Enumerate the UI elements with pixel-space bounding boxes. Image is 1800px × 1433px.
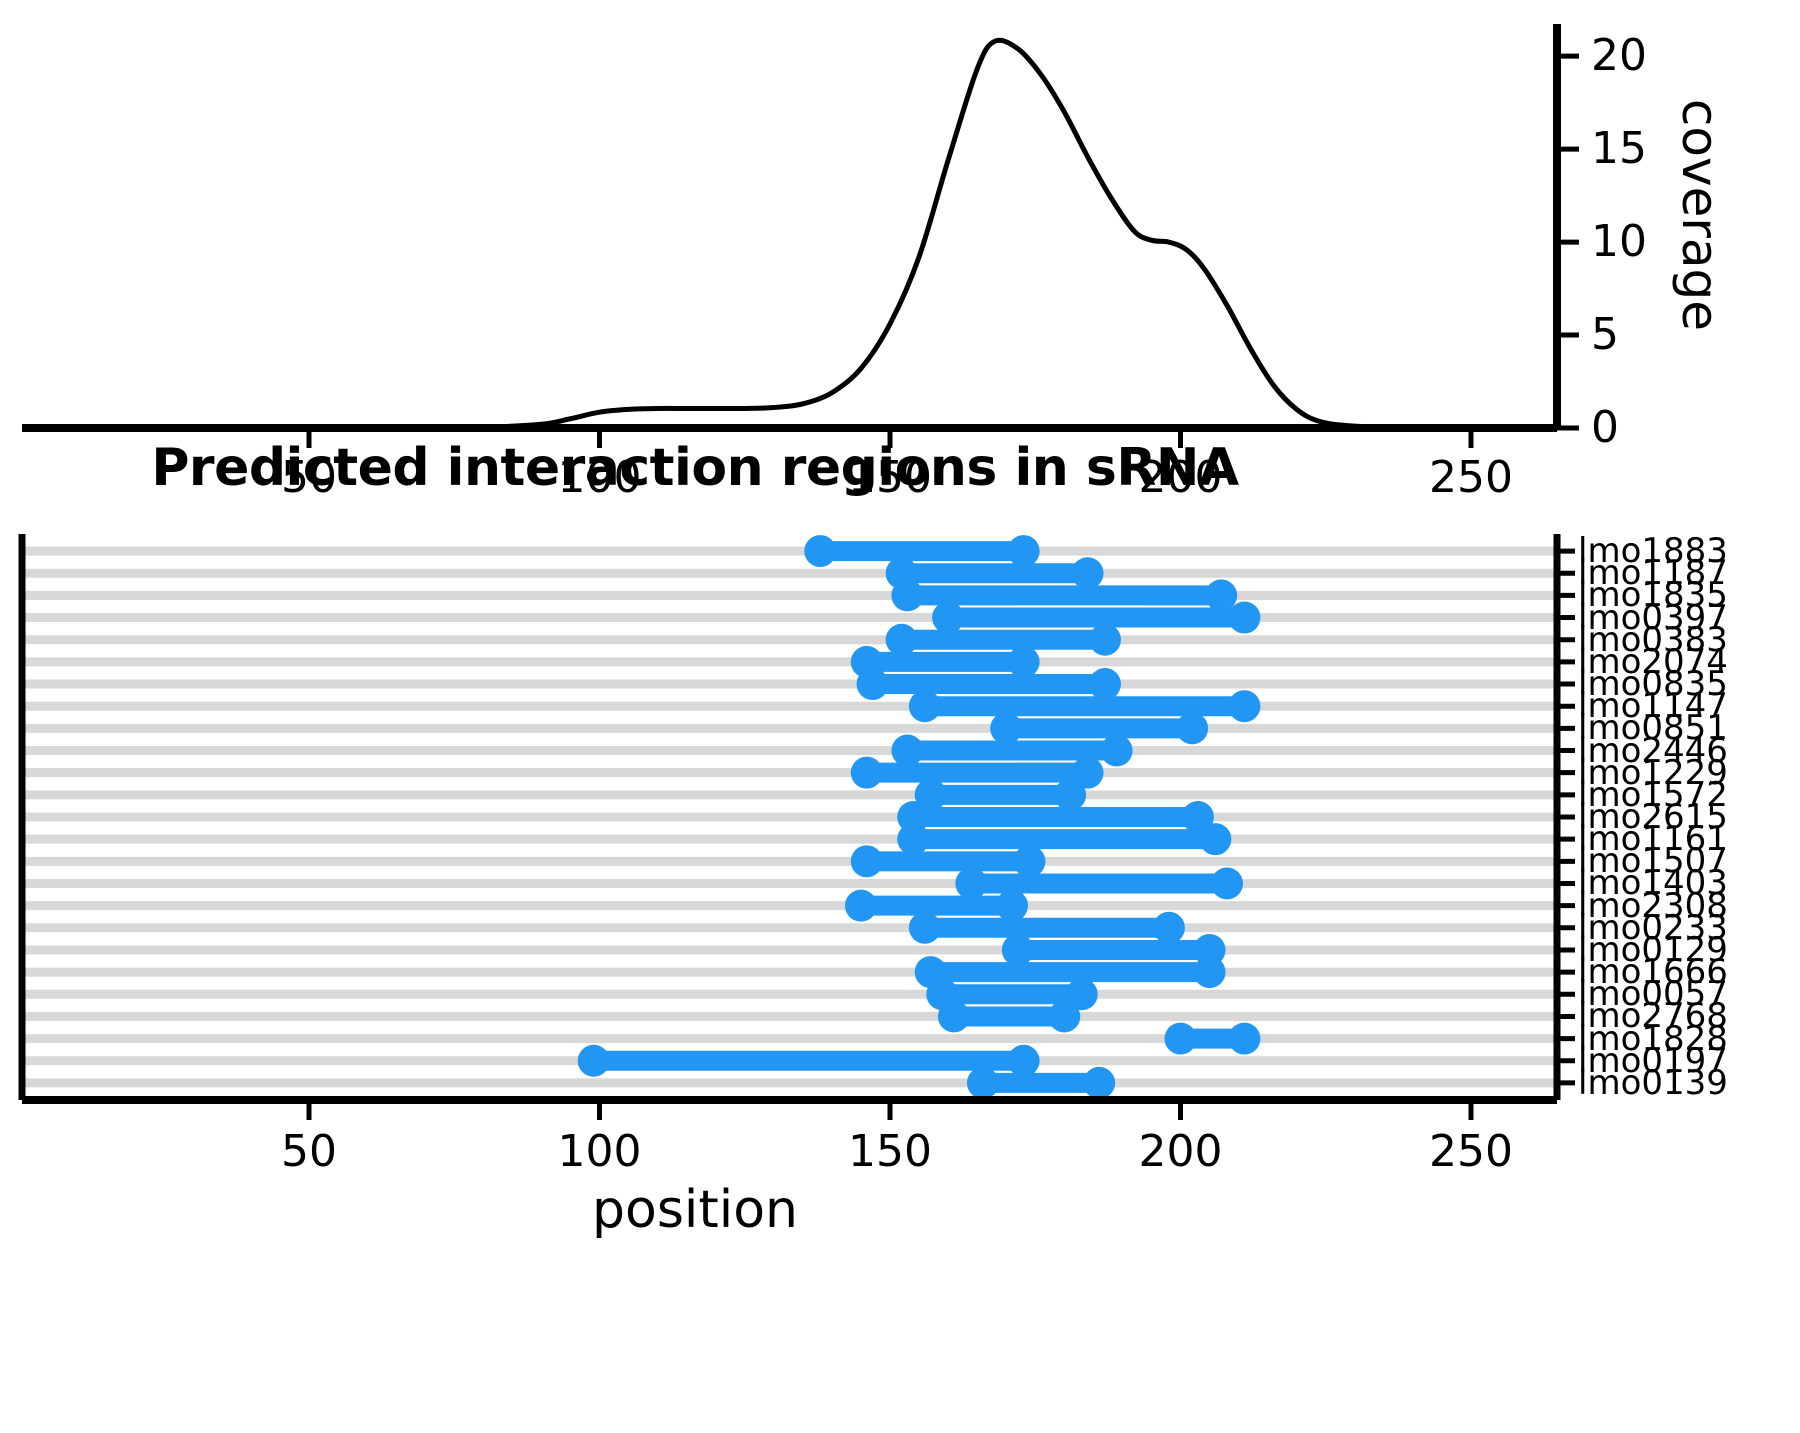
region-end-dot[interactable] (1205, 579, 1237, 611)
coverage-density-curve (141, 40, 1576, 428)
coverage-axis-label: coverage (1671, 99, 1729, 331)
region-start-dot[interactable] (990, 712, 1022, 744)
region-start-dot[interactable] (851, 845, 883, 877)
region-end-dot[interactable] (1194, 956, 1226, 988)
page-title: Predicted interaction regions in sRNA (0, 438, 1390, 498)
coverage-y-tick-label: 15 (1591, 127, 1647, 171)
region-end-dot[interactable] (1072, 557, 1104, 589)
region-end-dot[interactable] (1013, 845, 1045, 877)
region-start-dot[interactable] (967, 1067, 999, 1099)
region-end-dot[interactable] (1101, 735, 1133, 767)
figure-root: 50100150200250 05101520 coverage Predict… (0, 0, 1800, 1433)
coverage-y-tick-label: 10 (1591, 220, 1647, 264)
region-start-dot[interactable] (891, 735, 923, 767)
gene-label: lmo0139 (1578, 1066, 1728, 1100)
region-end-dot[interactable] (1089, 668, 1121, 700)
coverage-y-tick-label: 5 (1591, 313, 1619, 357)
region-end-dot[interactable] (1228, 1023, 1260, 1055)
region-end-dot[interactable] (1153, 912, 1185, 944)
interaction-regions-panel: lmo1883lmo1187lmo1835lmo0397lmo0383lmo20… (0, 520, 1800, 1433)
position-x-tick-label: 150 (848, 1130, 932, 1174)
coverage-density-plot (0, 0, 1800, 500)
coverage-x-tick-label: 250 (1429, 456, 1513, 500)
region-end-dot[interactable] (1228, 602, 1260, 634)
row-track-lines (22, 551, 1557, 1083)
region-start-dot[interactable] (851, 757, 883, 789)
region-start-dot[interactable] (897, 823, 929, 855)
region-end-dot[interactable] (1089, 624, 1121, 656)
position-axis-label: position (0, 1180, 1390, 1240)
region-start-dot[interactable] (578, 1045, 610, 1077)
coverage-y-tick-label: 20 (1591, 34, 1647, 78)
region-start-dot[interactable] (938, 1000, 970, 1032)
position-x-tick-label: 50 (281, 1130, 337, 1174)
region-start-dot[interactable] (932, 602, 964, 634)
region-start-dot[interactable] (909, 690, 941, 722)
region-end-dot[interactable] (1008, 646, 1040, 678)
region-end-dot[interactable] (1228, 690, 1260, 722)
region-start-dot[interactable] (804, 535, 836, 567)
region-end-dot[interactable] (1008, 535, 1040, 567)
region-start-dot[interactable] (955, 867, 987, 899)
region-start-dot[interactable] (886, 624, 918, 656)
region-end-dot[interactable] (996, 890, 1028, 922)
region-start-dot[interactable] (857, 668, 889, 700)
coverage-y-tick-label: 0 (1591, 406, 1619, 450)
interaction-regions-plot (0, 520, 1800, 1433)
region-start-dot[interactable] (1002, 934, 1034, 966)
region-end-dot[interactable] (1083, 1067, 1115, 1099)
region-end-dot[interactable] (1199, 823, 1231, 855)
position-x-tick-label: 250 (1429, 1130, 1513, 1174)
region-end-dot[interactable] (1211, 867, 1243, 899)
region-end-dot[interactable] (1048, 1000, 1080, 1032)
region-end-dot[interactable] (1008, 1045, 1040, 1077)
region-start-dot[interactable] (1165, 1023, 1197, 1055)
region-start-dot[interactable] (909, 912, 941, 944)
position-x-tick-label: 200 (1139, 1130, 1223, 1174)
position-x-tick-label: 100 (558, 1130, 642, 1174)
coverage-density-panel: 50100150200250 05101520 coverage (0, 0, 1800, 500)
region-end-dot[interactable] (1176, 712, 1208, 744)
region-end-dot[interactable] (1054, 779, 1086, 811)
region-start-dot[interactable] (845, 890, 877, 922)
region-start-dot[interactable] (891, 579, 923, 611)
